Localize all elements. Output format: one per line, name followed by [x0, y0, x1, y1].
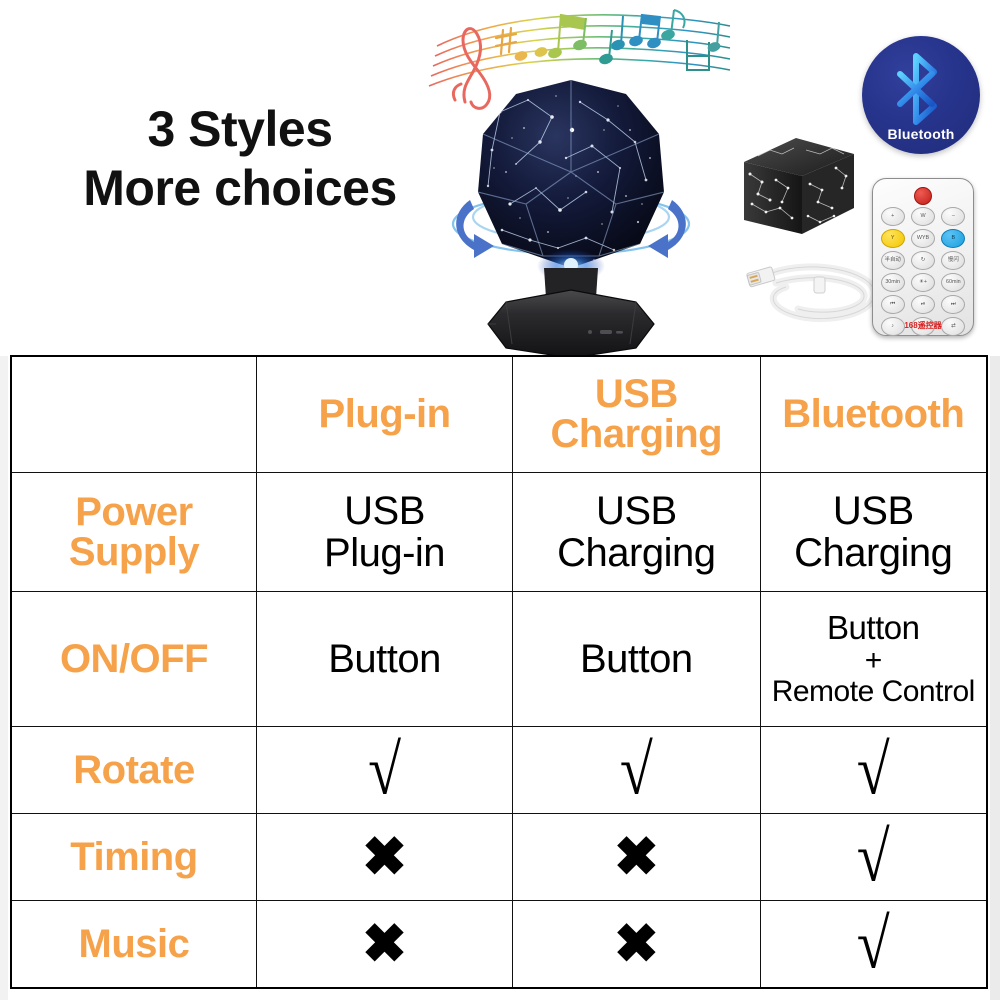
- column-header-bluetooth: Bluetooth: [760, 357, 986, 472]
- cell-power-supply-plug-in: USB Plug-in: [256, 472, 512, 591]
- check-mark-icon: √: [620, 735, 653, 806]
- cell-line: Button: [580, 637, 693, 681]
- right-edge-strip: [990, 352, 1000, 1000]
- row-label-timing: Timing: [12, 814, 256, 901]
- column-header-line: Charging: [551, 412, 723, 456]
- cross-mark-icon: ✖: [362, 917, 407, 971]
- cell-rotate-usb-charging: √: [513, 727, 760, 814]
- comparison-table: Plug-in USB Charging Bluetooth: [12, 357, 986, 987]
- gift-box-image: [736, 128, 860, 238]
- cell-line: Charging: [557, 531, 715, 575]
- remote-power-button: [914, 187, 932, 205]
- cell-line: Remote Control: [765, 676, 982, 708]
- remote-key: Y: [881, 229, 905, 248]
- star-projector-lamp-image: [440, 72, 702, 356]
- cell-line: USB: [344, 489, 425, 533]
- cell-timing-usb-charging: ✖: [513, 814, 760, 901]
- row-label-line: Music: [79, 922, 190, 966]
- cell-power-supply-usb-charging: USB Charging: [513, 472, 760, 591]
- comparison-table-wrapper: Plug-in USB Charging Bluetooth: [10, 355, 988, 989]
- remote-key: +: [881, 207, 905, 226]
- cell-timing-bluetooth: √: [760, 814, 986, 901]
- column-header-line: Bluetooth: [782, 392, 964, 436]
- cell-line: Button: [328, 637, 441, 681]
- remote-model-label: 168遥控器: [872, 320, 974, 331]
- remote-key: –: [941, 207, 965, 226]
- remote-key-grid: + W – Y WYB B 半自动 ↻ 慢闪 30min ☀+ 60min ⏮ …: [879, 207, 967, 336]
- row-label-line: Timing: [70, 835, 197, 879]
- check-mark-icon: √: [368, 735, 401, 806]
- remote-key: ⏯: [911, 295, 935, 314]
- page-title: 3 Styles More choices: [40, 100, 440, 218]
- remote-key: ☀+: [911, 273, 935, 292]
- cell-rotate-plug-in: √: [256, 727, 512, 814]
- table-corner-cell: [12, 357, 256, 472]
- cell-power-supply-bluetooth: USB Charging: [760, 472, 986, 591]
- column-header-usb-charging: USB Charging: [513, 357, 760, 472]
- hero-section: 3 Styles More choices: [0, 0, 1000, 356]
- cross-mark-icon: ✖: [614, 917, 659, 971]
- usb-cable-image: [742, 243, 890, 335]
- cell-on-off-usb-charging: Button: [513, 591, 760, 727]
- product-infographic: 3 Styles More choices: [0, 0, 1000, 1000]
- remote-key: B: [941, 229, 965, 248]
- bluetooth-badge: Bluetooth: [862, 36, 980, 154]
- row-label-line: ON/OFF: [60, 637, 208, 681]
- remote-key: ⏭: [941, 295, 965, 314]
- row-label-line: Supply: [69, 530, 199, 574]
- cell-rotate-bluetooth: √: [760, 727, 986, 814]
- cell-line: Plug-in: [324, 531, 445, 575]
- cell-music-plug-in: ✖: [256, 901, 512, 987]
- row-label-rotate: Rotate: [12, 727, 256, 814]
- cell-on-off-plug-in: Button: [256, 591, 512, 727]
- remote-key: W: [911, 207, 935, 226]
- cross-mark-icon: ✖: [614, 830, 659, 884]
- cell-line: Button: [827, 609, 919, 646]
- row-label-line: Rotate: [73, 748, 194, 792]
- cell-line: USB: [833, 489, 914, 533]
- column-header-plug-in: Plug-in: [256, 357, 512, 472]
- table-row: Music ✖ ✖ √: [12, 901, 986, 987]
- table-row: Power Supply USB Plug-in USB Charg: [12, 472, 986, 591]
- bluetooth-badge-label: Bluetooth: [862, 126, 980, 142]
- remote-key: ↻: [911, 251, 935, 270]
- column-header-line: USB: [595, 372, 678, 416]
- row-label-music: Music: [12, 901, 256, 987]
- cell-on-off-bluetooth: Button + Remote Control: [760, 591, 986, 727]
- check-mark-icon: √: [857, 909, 890, 980]
- remote-key: 慢闪: [941, 251, 965, 270]
- remote-control-image: + W – Y WYB B 半自动 ↻ 慢闪 30min ☀+ 60min ⏮ …: [872, 178, 974, 336]
- cell-line: USB: [596, 489, 677, 533]
- row-label-on-off: ON/OFF: [12, 591, 256, 727]
- check-mark-icon: √: [857, 735, 890, 806]
- check-mark-icon: √: [857, 822, 890, 893]
- remote-key: WYB: [911, 229, 935, 248]
- table-row: Timing ✖ ✖ √: [12, 814, 986, 901]
- remote-key: ⏮: [881, 295, 905, 314]
- cell-line: Charging: [794, 531, 952, 575]
- table-row: ON/OFF Button Button Button + Remote Con…: [12, 591, 986, 727]
- table-header-row: Plug-in USB Charging Bluetooth: [12, 357, 986, 472]
- remote-key: 60min: [941, 273, 965, 292]
- bluetooth-icon: [894, 52, 948, 131]
- cross-mark-icon: ✖: [362, 830, 407, 884]
- headline-line-1: 3 Styles: [40, 100, 440, 159]
- headline-line-2: More choices: [40, 159, 440, 218]
- remote-key: 30min: [881, 273, 905, 292]
- remote-key: 半自动: [881, 251, 905, 270]
- table-row: Rotate √ √ √: [12, 727, 986, 814]
- column-header-line: Plug-in: [319, 392, 451, 436]
- row-label-power-supply: Power Supply: [12, 472, 256, 591]
- cell-music-bluetooth: √: [760, 901, 986, 987]
- cell-line: +: [765, 646, 982, 676]
- cell-music-usb-charging: ✖: [513, 901, 760, 987]
- cell-timing-plug-in: ✖: [256, 814, 512, 901]
- row-label-line: Power: [75, 490, 193, 534]
